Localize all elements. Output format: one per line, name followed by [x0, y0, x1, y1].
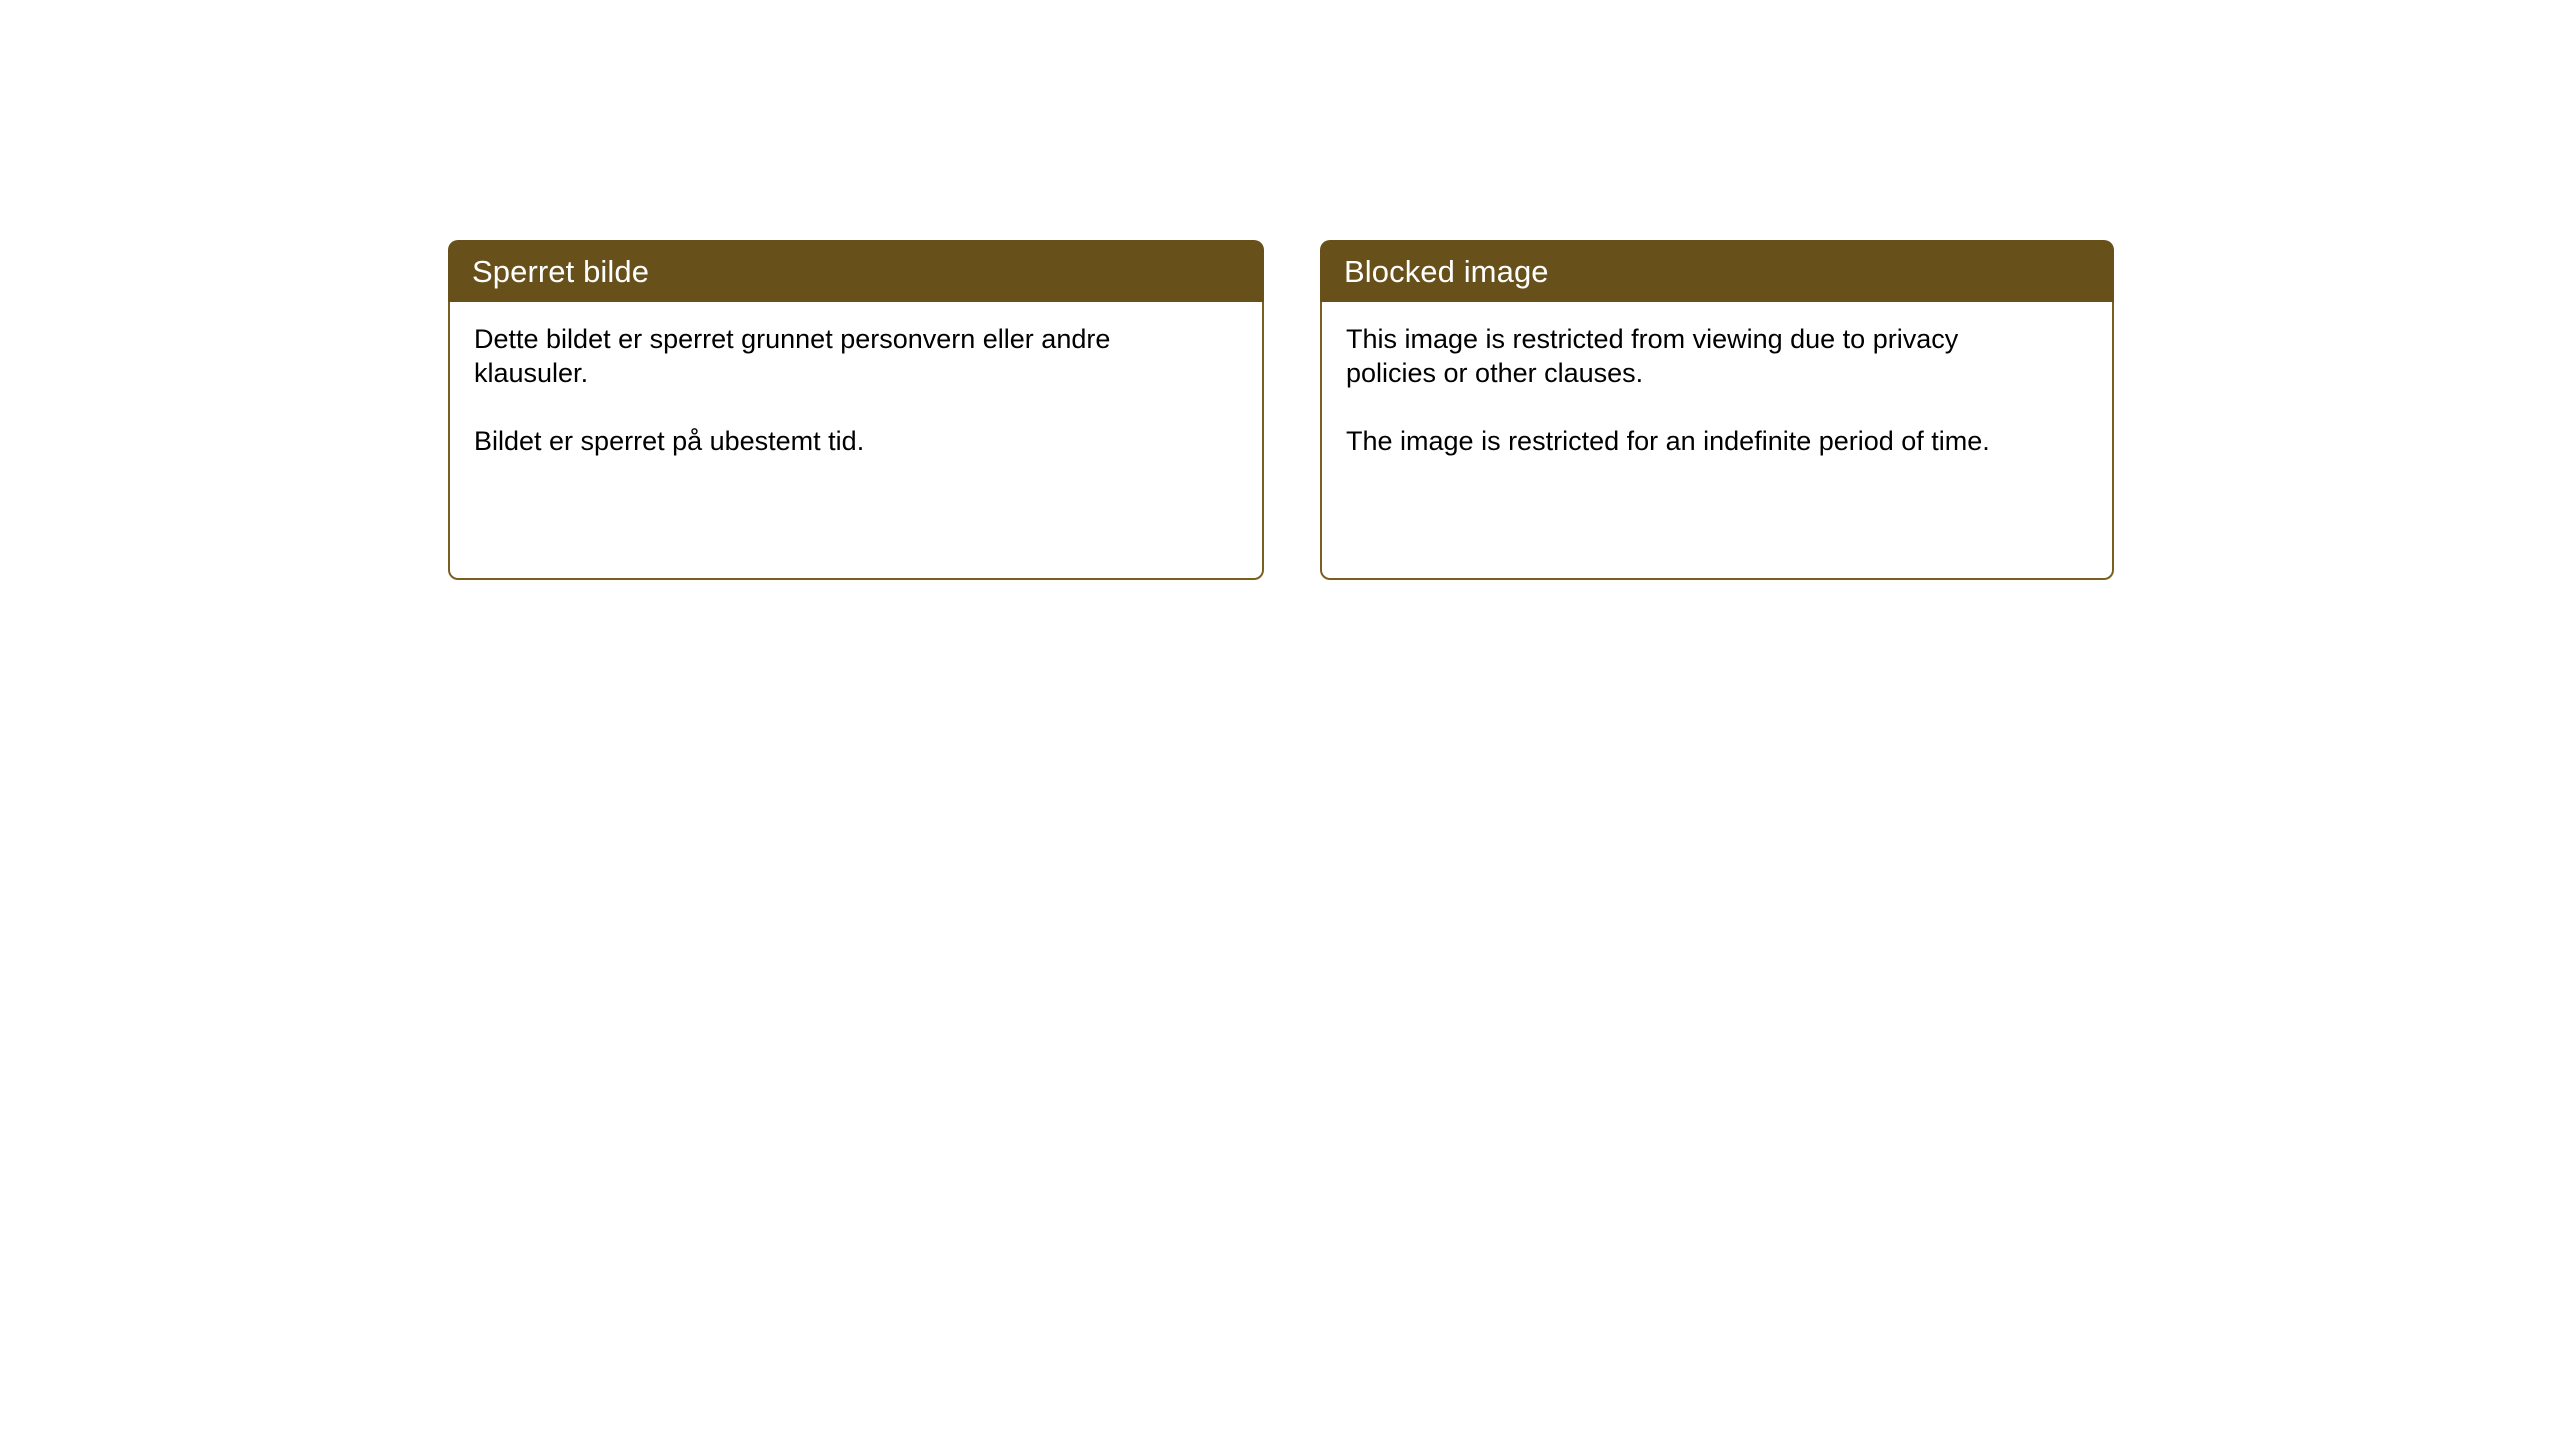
card-paragraph-reason-norwegian: Dette bildet er sperret grunnet personve…	[474, 322, 1174, 390]
card-header-norwegian: Sperret bilde	[448, 240, 1264, 302]
card-header-english: Blocked image	[1320, 240, 2114, 302]
card-title-norwegian: Sperret bilde	[448, 256, 649, 287]
card-paragraph-duration-english: The image is restricted for an indefinit…	[1346, 424, 2036, 458]
page-canvas: Sperret bilde Dette bildet er sperret gr…	[0, 0, 2560, 1440]
card-body-english: This image is restricted from viewing du…	[1320, 302, 2114, 580]
card-paragraph-duration-norwegian: Bildet er sperret på ubestemt tid.	[474, 424, 1174, 458]
blocked-image-card-norwegian: Sperret bilde Dette bildet er sperret gr…	[448, 240, 1264, 580]
card-body-norwegian: Dette bildet er sperret grunnet personve…	[448, 302, 1264, 580]
blocked-image-card-english: Blocked image This image is restricted f…	[1320, 240, 2114, 580]
card-paragraph-reason-english: This image is restricted from viewing du…	[1346, 322, 2036, 390]
card-title-english: Blocked image	[1320, 256, 1549, 287]
